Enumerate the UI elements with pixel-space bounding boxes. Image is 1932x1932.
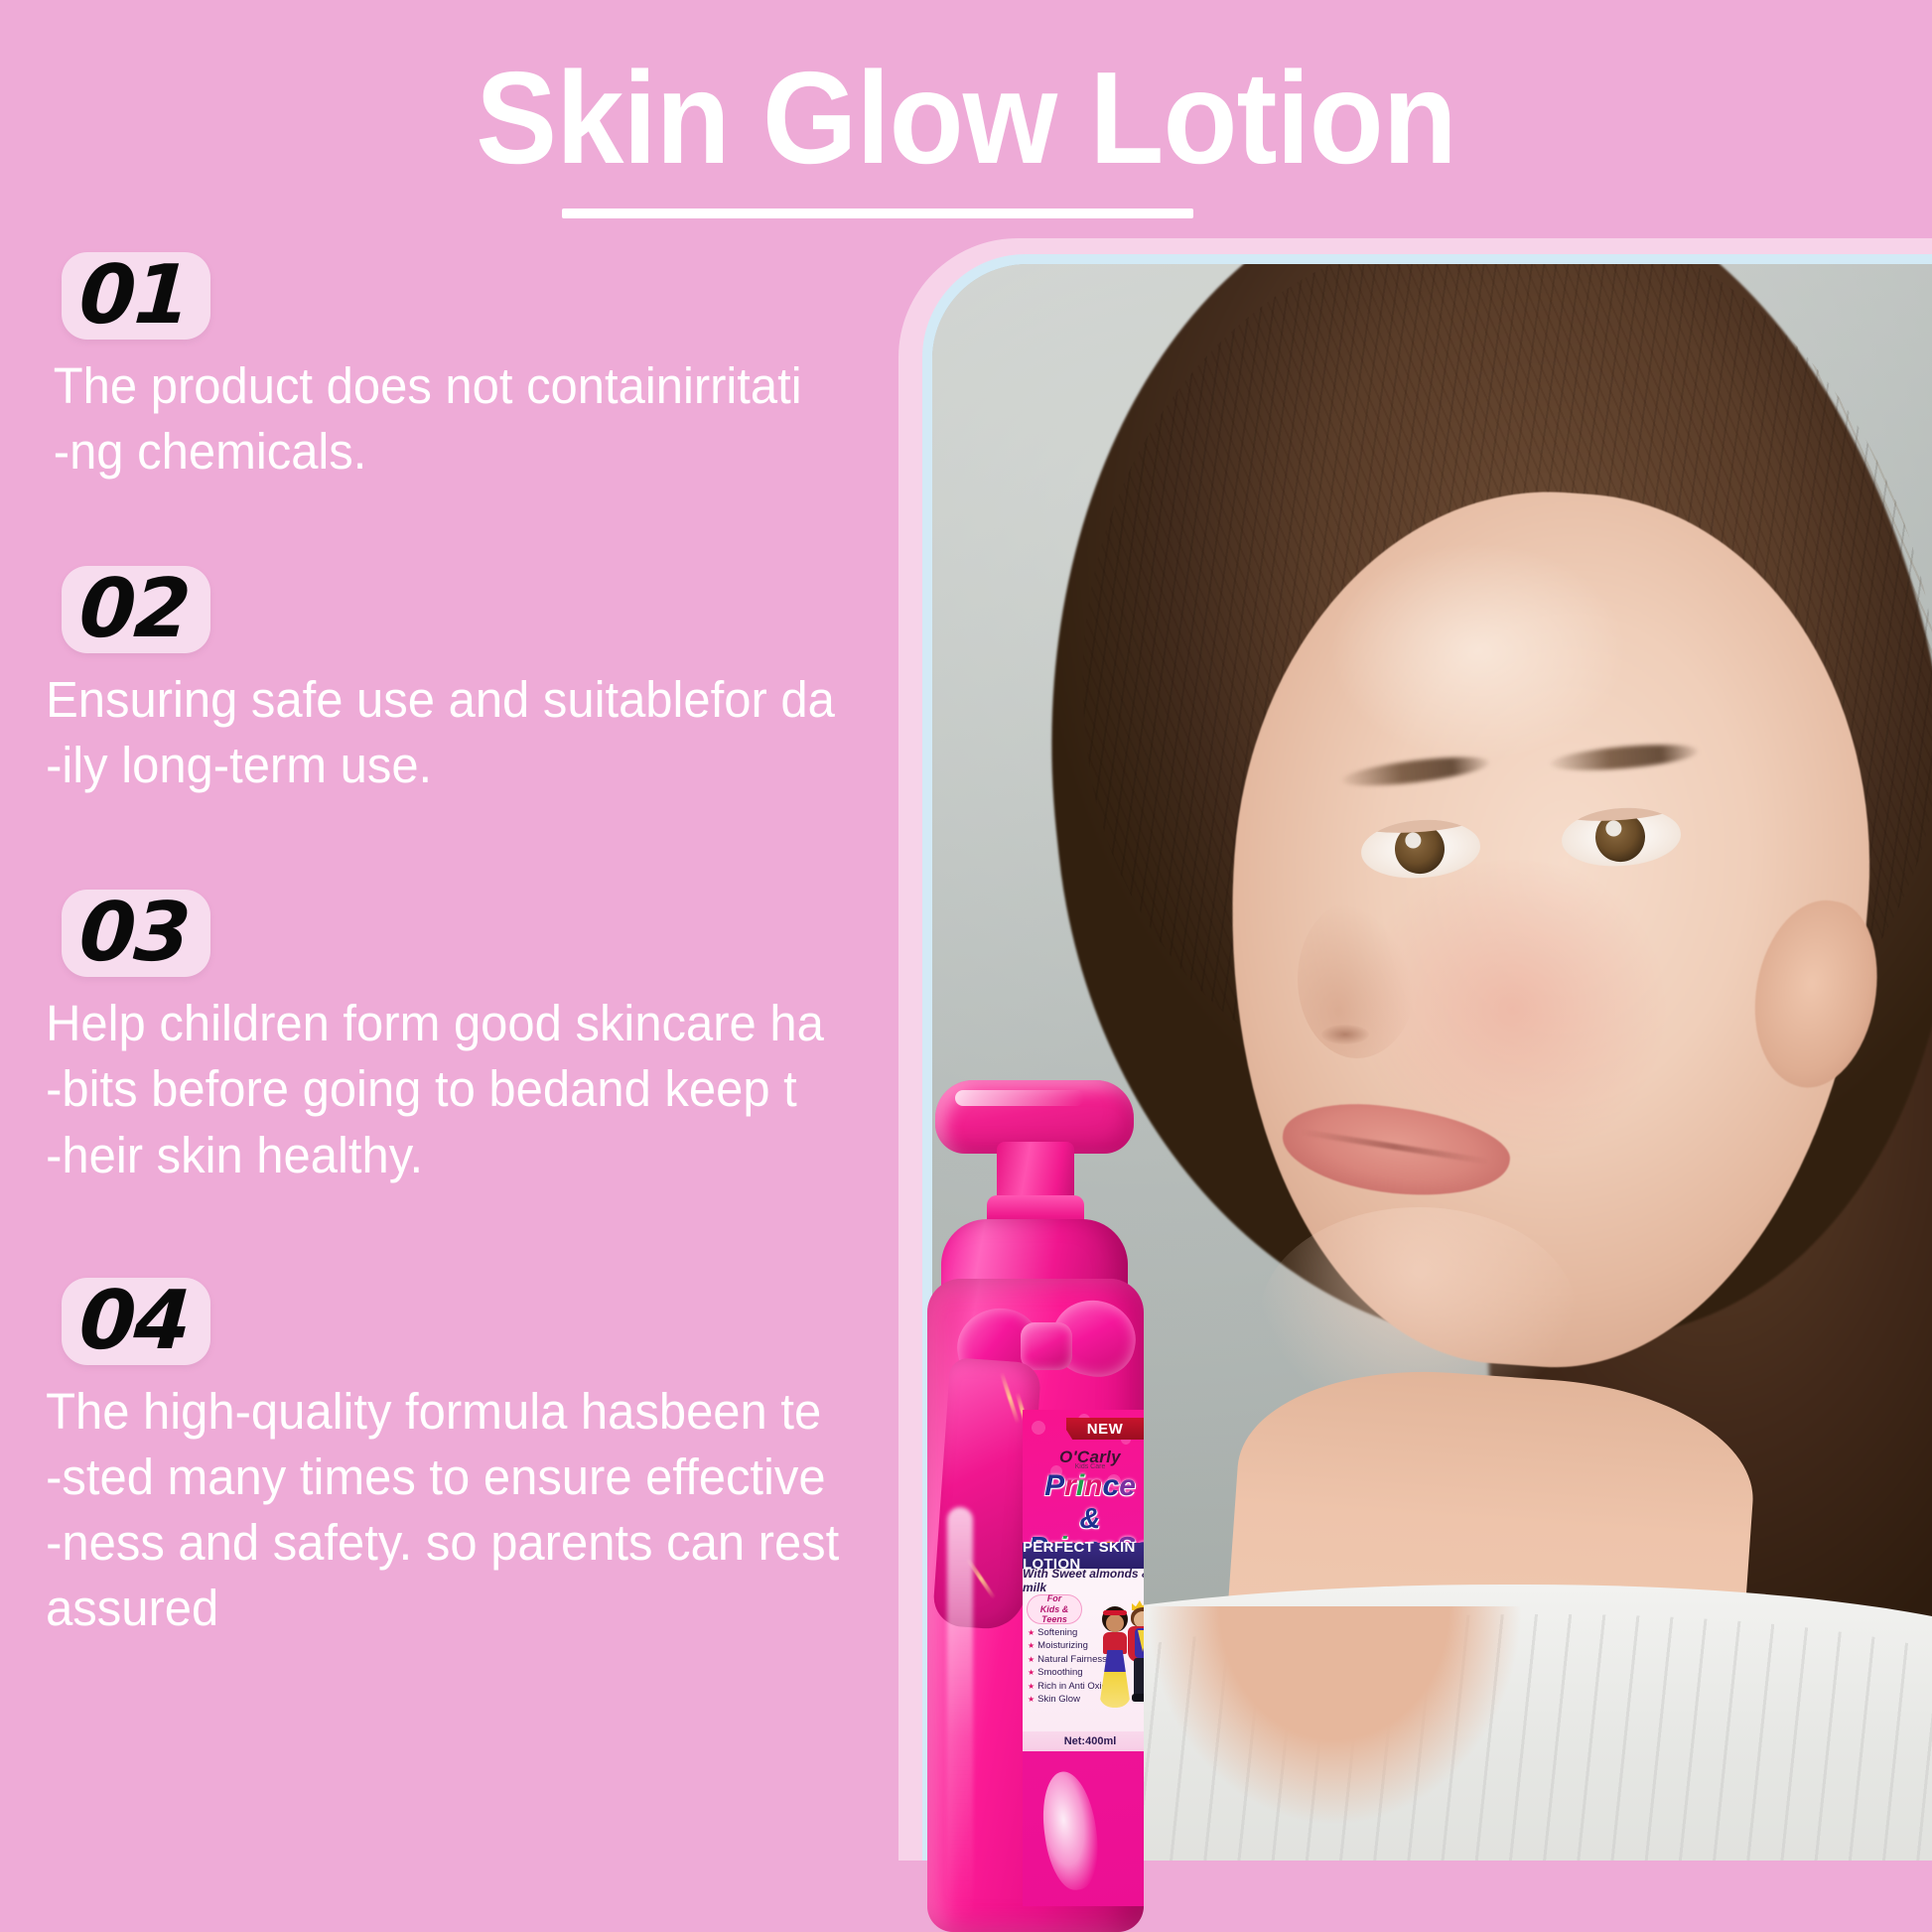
feature-text-02: Ensuring safe use and suitablefor da -il… bbox=[0, 667, 887, 799]
audience-line1: For bbox=[1047, 1593, 1062, 1603]
feature-number-01: 01 bbox=[77, 254, 192, 338]
feature-number-badge-03: 03 bbox=[62, 890, 210, 977]
feature-item-03: 03 Help children form good skincare ha -… bbox=[0, 890, 923, 1188]
benefits-list: Softening Moisturizing Natural Fairness … bbox=[1028, 1626, 1111, 1707]
product-label: NEW O'Carly Kids Care Prince & PrinceSs … bbox=[1023, 1410, 1144, 1906]
feature-number-03: 03 bbox=[77, 892, 192, 975]
audience-line2: Kids & Teens bbox=[1028, 1604, 1081, 1625]
benefit-item: Moisturizing bbox=[1028, 1639, 1111, 1652]
feature-text-01: The product does not containirritati -ng… bbox=[0, 353, 887, 485]
feature-text-03: Help children form good skincare ha -bit… bbox=[0, 991, 887, 1188]
product-type-band: PERFECT SKIN LOTION bbox=[1023, 1543, 1144, 1569]
princess-character bbox=[1100, 1606, 1130, 1710]
bottle-glare bbox=[947, 1507, 973, 1924]
feature-item-01: 01 The product does not containirritati … bbox=[0, 252, 923, 484]
prince-legs bbox=[1134, 1658, 1144, 1698]
princess-face bbox=[1106, 1614, 1124, 1632]
bottle-body: NEW O'Carly Kids Care Prince & PrinceSs … bbox=[927, 1279, 1144, 1932]
forehead-highlight bbox=[1329, 542, 1627, 760]
feature-item-04: 04 The high-quality formula hasbeen te -… bbox=[0, 1278, 923, 1642]
feature-number-04: 04 bbox=[77, 1280, 192, 1363]
benefit-item: Rich in Anti Oxidant bbox=[1028, 1680, 1111, 1693]
feature-list: 01 The product does not containirritati … bbox=[0, 248, 923, 1642]
feature-number-badge-04: 04 bbox=[62, 1278, 210, 1365]
product-name-line1: Prince bbox=[1023, 1471, 1144, 1501]
benefit-item: Natural Fairness bbox=[1028, 1653, 1111, 1666]
feature-text-04: The high-quality formula hasbeen te -ste… bbox=[0, 1379, 887, 1642]
product-bottle: NEW O'Carly Kids Care Prince & PrinceSs … bbox=[913, 1080, 1191, 1932]
cartoon-characters bbox=[1100, 1592, 1144, 1722]
benefit-item: Smoothing bbox=[1028, 1666, 1111, 1679]
product-tagline: With Sweet almonds & milk bbox=[1023, 1569, 1144, 1592]
new-badge: NEW bbox=[1066, 1418, 1144, 1440]
page-title: Skin Glow Lotion bbox=[68, 48, 1864, 190]
net-volume: Net:400ml bbox=[1023, 1731, 1144, 1751]
benefit-item: Softening bbox=[1028, 1626, 1111, 1639]
feature-number-badge-01: 01 bbox=[62, 252, 210, 340]
prince-character bbox=[1128, 1600, 1144, 1712]
bow-knot bbox=[1021, 1322, 1072, 1370]
audience-badge: For Kids & Teens bbox=[1027, 1594, 1082, 1624]
title-underline-rule bbox=[562, 208, 1193, 218]
benefit-item: Skin Glow bbox=[1028, 1693, 1111, 1706]
poster-canvas: Skin Glow Lotion bbox=[0, 0, 1932, 1932]
prince-boots bbox=[1132, 1694, 1144, 1702]
feature-number-badge-02: 02 bbox=[62, 566, 210, 653]
feature-number-02: 02 bbox=[77, 568, 192, 651]
label-lower-section: For Kids & Teens Softening Moisturizing … bbox=[1023, 1592, 1144, 1731]
princess-headband bbox=[1103, 1610, 1127, 1615]
princess-skirt bbox=[1099, 1650, 1131, 1708]
feature-item-02: 02 Ensuring safe use and suitablefor da … bbox=[0, 566, 923, 798]
